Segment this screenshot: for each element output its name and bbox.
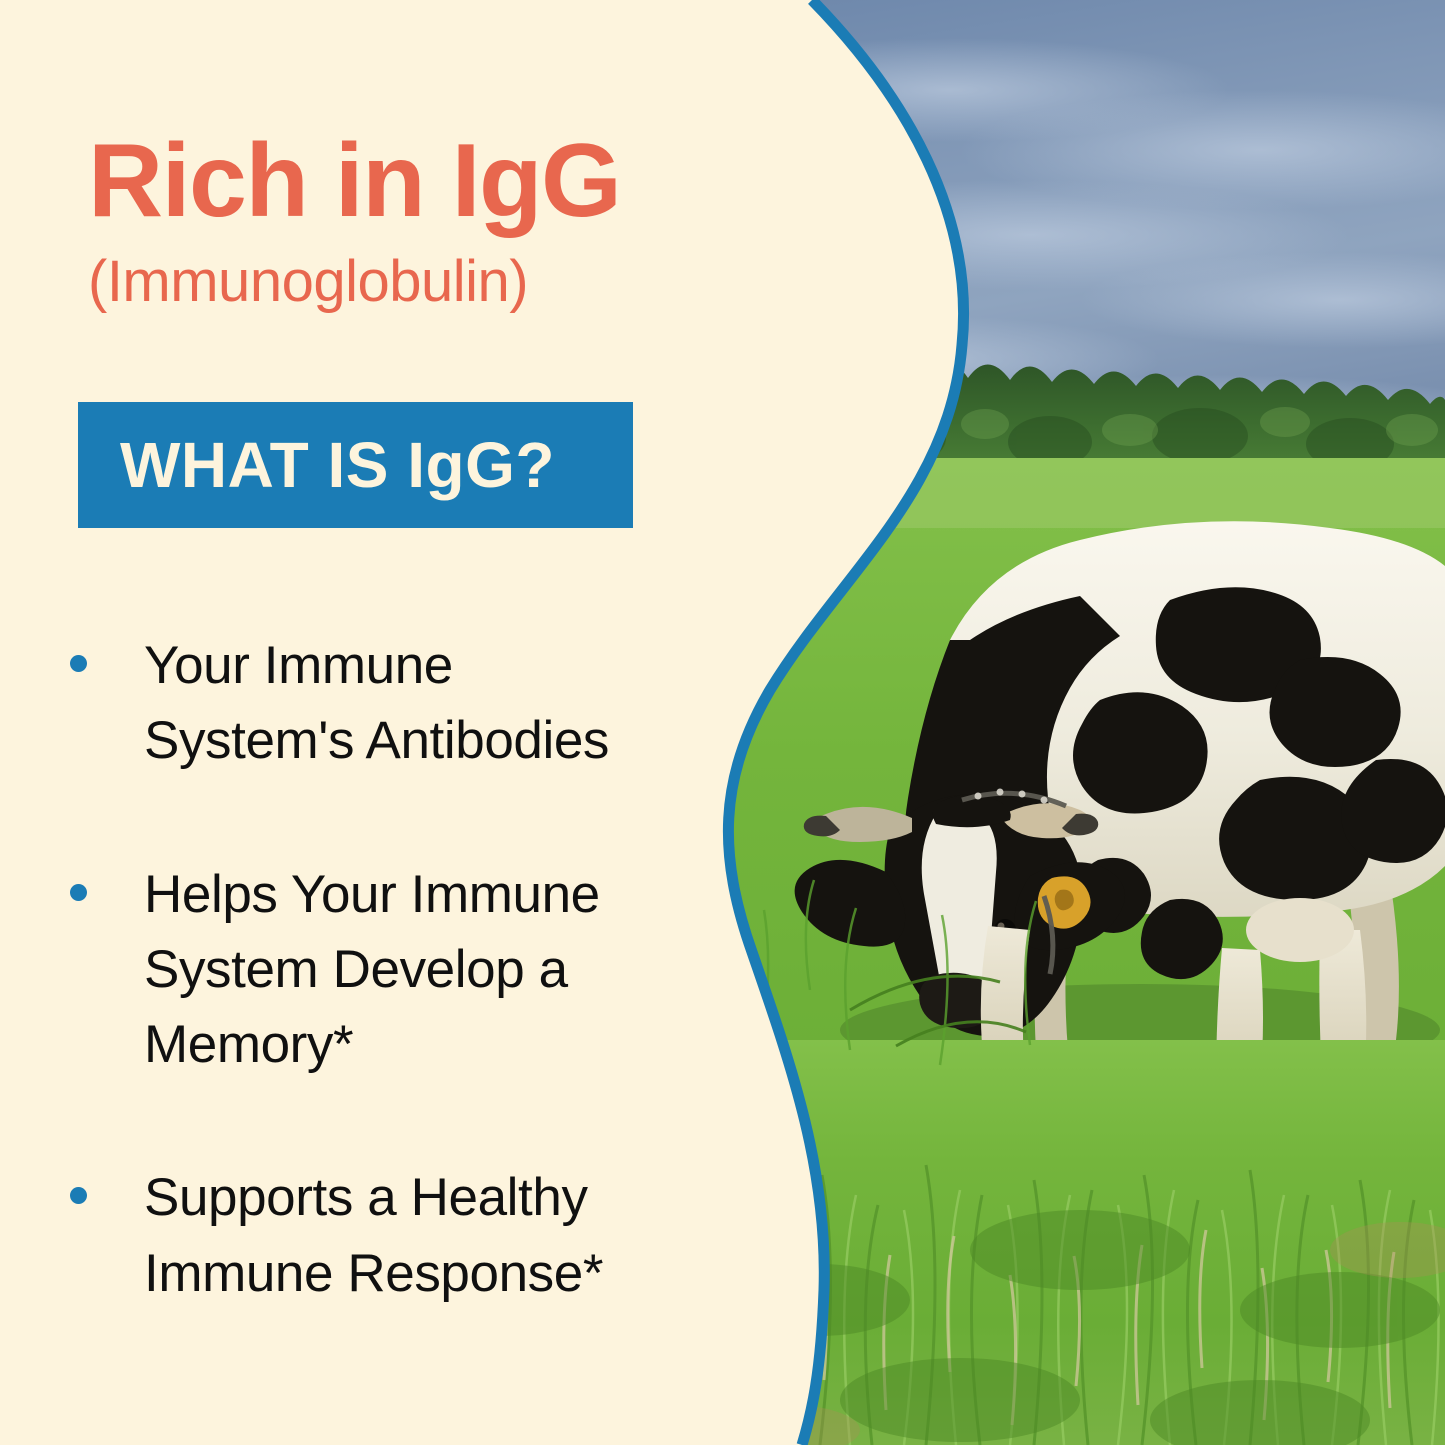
list-item-label: Your Immune System's Antibodies <box>144 628 644 779</box>
section-banner-label: WHAT IS IgG? <box>78 433 555 497</box>
section-banner: WHAT IS IgG? <box>78 402 633 528</box>
text-column: Rich in IgG (Immunoglobulin) WHAT IS IgG… <box>0 0 700 1445</box>
list-item-label: Supports a Healthy Immune Response* <box>144 1160 644 1311</box>
list-item: Supports a Healthy Immune Response* <box>70 1160 700 1311</box>
pasture-illustration <box>700 0 1445 1445</box>
list-item: Helps Your Immune System Develop a Memor… <box>70 857 700 1083</box>
page-title: Rich in IgG <box>88 128 688 234</box>
foreground-grass <box>700 1040 1445 1445</box>
bullet-dot-icon <box>70 1187 87 1204</box>
page-subtitle: (Immunoglobulin) <box>88 252 708 313</box>
list-item-label: Helps Your Immune System Develop a Memor… <box>144 857 644 1083</box>
benefits-list: Your Immune System's Antibodies Helps Yo… <box>70 628 700 1311</box>
bullet-dot-icon <box>70 884 87 901</box>
poster-root: Rich in IgG (Immunoglobulin) WHAT IS IgG… <box>0 0 1445 1445</box>
list-item: Your Immune System's Antibodies <box>70 628 700 779</box>
bullet-dot-icon <box>70 655 87 672</box>
cow-pasture-photo <box>700 0 1445 1445</box>
